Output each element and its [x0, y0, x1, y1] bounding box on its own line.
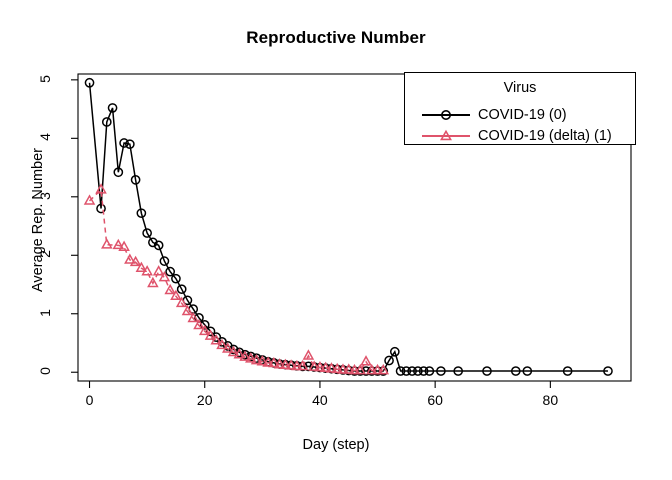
- y-tick-label: 3: [28, 188, 62, 204]
- legend-item-covid-19-delta-1[interactable]: COVID-19 (delta) (1): [404, 125, 636, 147]
- legend-item-covid-19-0[interactable]: COVID-19 (0): [404, 104, 636, 126]
- data-point: [102, 240, 111, 248]
- x-tick-label: 40: [312, 392, 328, 408]
- legend-title: Virus: [404, 80, 636, 96]
- x-tick-label: 0: [86, 392, 94, 408]
- x-tick-label: 20: [197, 392, 213, 408]
- legend-label-0: COVID-19 (0): [478, 104, 567, 126]
- y-tick-label: 5: [28, 71, 62, 87]
- x-tick-label: 80: [543, 392, 559, 408]
- series-line-1: [90, 190, 384, 371]
- y-tick-label: 2: [28, 246, 62, 262]
- y-tick-label: 1: [28, 305, 62, 321]
- y-tick-label: 4: [28, 129, 62, 145]
- data-point: [154, 267, 163, 275]
- data-point: [97, 185, 106, 193]
- x-tick-label: 60: [427, 392, 443, 408]
- legend-key-triangle: [422, 125, 470, 147]
- chart-root: Reproductive Number Average Rep. Number …: [0, 0, 672, 480]
- legend-key-circle: [422, 104, 470, 126]
- legend-label-1: COVID-19 (delta) (1): [478, 125, 612, 147]
- y-tick-label: 0: [28, 363, 62, 379]
